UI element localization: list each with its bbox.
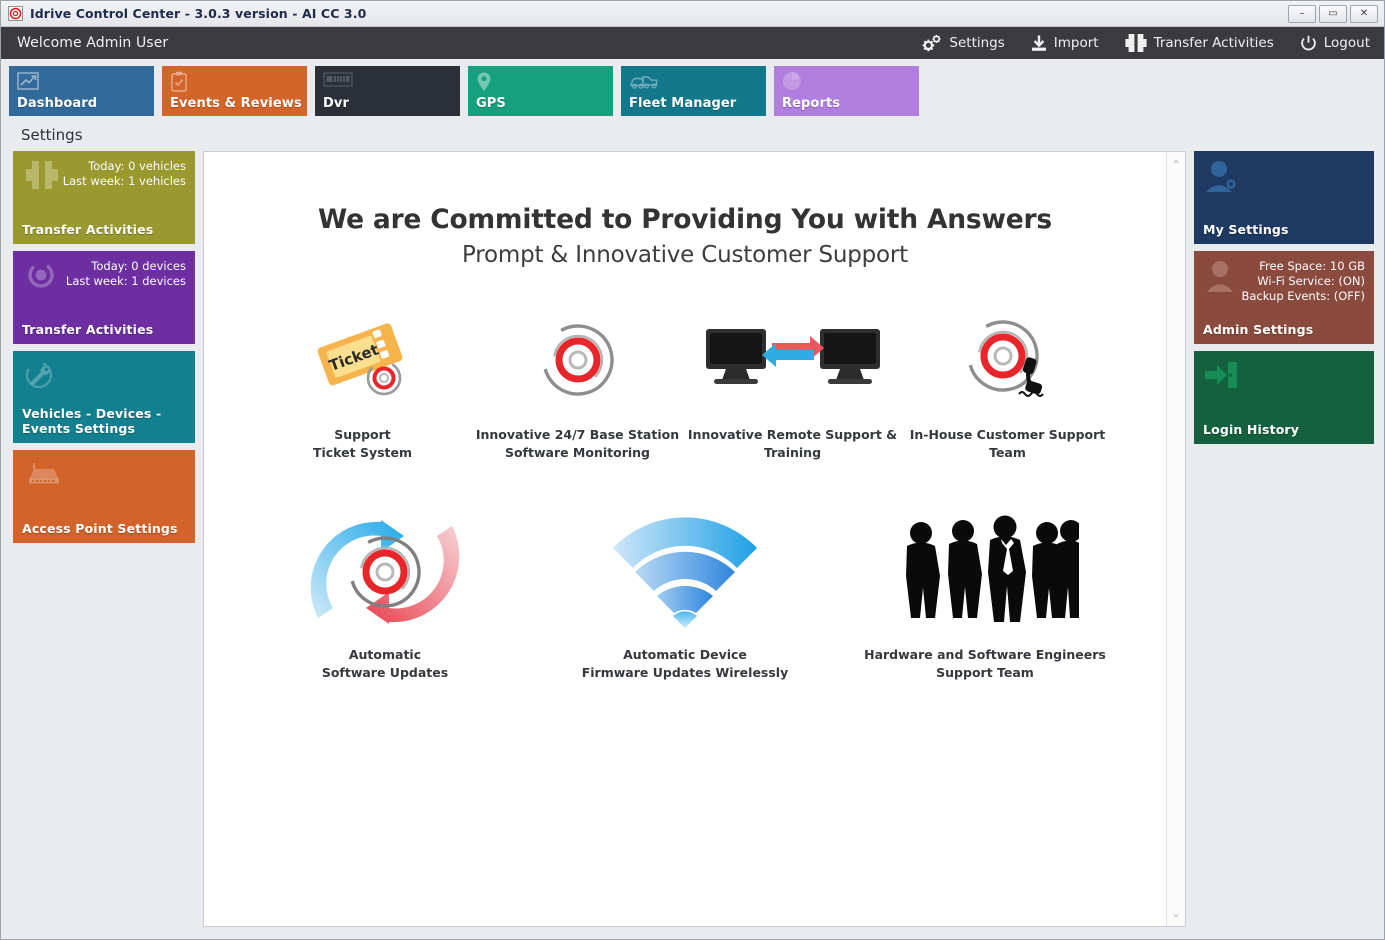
tab-gps[interactable]: GPS	[468, 66, 613, 116]
team-silhouette-icon	[891, 510, 1079, 634]
content-headline: We are Committed to Providing You with A…	[214, 204, 1156, 235]
tile-stats: Today: 0 vehicles Last week: 1 vehicles	[63, 159, 186, 189]
clipboard-check-icon	[170, 71, 307, 93]
tile-vehicles-devices-events-settings[interactable]: Vehicles - Devices - Events Settings	[13, 351, 195, 443]
tile-label: Access Point Settings	[22, 521, 186, 536]
tab-dvr[interactable]: Dvr	[315, 66, 460, 116]
header-transfer-activities-button[interactable]: Transfer Activities	[1125, 34, 1274, 52]
feature-hardware-software-engineers: Hardware and Software EngineersSupport T…	[835, 510, 1135, 682]
base-station-target-icon	[536, 306, 620, 414]
header-logout-button[interactable]: Logout	[1300, 35, 1370, 52]
tab-events-reviews[interactable]: Events & Reviews	[162, 66, 307, 116]
chart-trend-icon	[17, 71, 154, 93]
pie-chart-icon	[782, 71, 919, 93]
power-icon	[1300, 35, 1317, 52]
router-icon	[22, 458, 64, 494]
feature-support-ticket-system: Ticket SupportTi	[255, 306, 470, 462]
vehicles-icon	[629, 71, 766, 93]
wifi-signal-icon	[605, 510, 765, 634]
wrench-icon	[22, 359, 58, 397]
user-settings-icon	[1203, 159, 1241, 197]
tile-stat-line: Today: 0 vehicles	[63, 159, 186, 174]
gears-icon	[921, 34, 942, 53]
window-controls: – ▭ ✕	[1288, 5, 1382, 23]
tile-label: My Settings	[1203, 222, 1365, 237]
tile-label: Transfer Activities	[22, 322, 186, 337]
maximize-button[interactable]: ▭	[1319, 5, 1347, 23]
left-tile-column: Today: 0 vehicles Last week: 1 vehicles …	[13, 151, 195, 927]
feature-base-station-monitoring: Innovative 24/7 Base StationSoftware Mon…	[470, 306, 685, 462]
tab-gps-label: GPS	[476, 96, 506, 111]
minimize-button[interactable]: –	[1288, 5, 1316, 23]
feature-label: SupportTicket System	[313, 426, 412, 462]
transfer-arrows-icon	[22, 159, 62, 195]
tile-transfer-activities-devices[interactable]: Today: 0 devices Last week: 1 devices Tr…	[13, 251, 195, 344]
tile-stat-line: Last week: 1 vehicles	[63, 174, 186, 189]
feature-label: AutomaticSoftware Updates	[322, 646, 448, 682]
tile-label: Transfer Activities	[22, 222, 186, 237]
feature-label: Innovative Remote Support &Training	[688, 426, 897, 462]
download-icon	[1031, 35, 1047, 52]
software-refresh-icon	[292, 510, 478, 634]
tile-label: Login History	[1203, 422, 1365, 437]
tile-stat-line: Last week: 1 devices	[66, 274, 186, 289]
header-settings-button[interactable]: Settings	[921, 34, 1004, 53]
feature-automatic-device-firmware-updates: Automatic DeviceFirmware Updates Wireles…	[535, 510, 835, 682]
tile-stat-line: Free Space: 10 GB	[1241, 259, 1365, 274]
tile-stats: Free Space: 10 GB Wi-Fi Service: (ON) Ba…	[1241, 259, 1365, 304]
tile-stat-line: Wi-Fi Service: (ON)	[1241, 274, 1365, 289]
tab-dashboard[interactable]: Dashboard	[9, 66, 154, 116]
admin-user-icon	[1203, 259, 1237, 297]
dvr-box-icon	[323, 71, 460, 93]
header-actions: Settings Import Transf	[921, 34, 1370, 53]
scroll-up-arrow[interactable]: ⌃	[1171, 159, 1181, 171]
page-body: Today: 0 vehicles Last week: 1 vehicles …	[1, 151, 1384, 939]
transfer-arrows-icon	[1125, 34, 1147, 52]
tile-admin-settings[interactable]: Free Space: 10 GB Wi-Fi Service: (ON) Ba…	[1194, 251, 1374, 344]
content-subheadline: Prompt & Innovative Customer Support	[214, 242, 1156, 268]
device-sync-icon	[22, 259, 60, 295]
feature-in-house-support-team: In-House Customer SupportTeam	[900, 306, 1115, 462]
tab-reports[interactable]: Reports	[774, 66, 919, 116]
feature-remote-support-training: Innovative Remote Support &Training	[685, 306, 900, 462]
right-tile-column: My Settings Free Space: 10 GB Wi-Fi Serv…	[1194, 151, 1374, 927]
module-tab-bar: Dashboard Events & Reviews	[1, 59, 1384, 121]
tile-stat-line: Backup Events: (OFF)	[1241, 289, 1365, 304]
support-ticket-icon: Ticket	[309, 306, 417, 414]
tile-label: Vehicles - Devices - Events Settings	[22, 406, 186, 436]
tile-my-settings[interactable]: My Settings	[1194, 151, 1374, 244]
tile-access-point-settings[interactable]: Access Point Settings	[13, 450, 195, 543]
feature-label: In-House Customer SupportTeam	[910, 426, 1106, 462]
header-import-button[interactable]: Import	[1031, 35, 1099, 52]
target-record-icon	[8, 6, 23, 21]
window-title: Idrive Control Center - 3.0.3 version - …	[30, 6, 366, 21]
close-button[interactable]: ✕	[1350, 5, 1378, 23]
header-transfer-label: Transfer Activities	[1154, 35, 1274, 51]
app-header: Welcome Admin User	[1, 27, 1384, 59]
tab-fleet-manager-label: Fleet Manager	[629, 96, 736, 111]
scroll-down-arrow[interactable]: ⌄	[1171, 907, 1181, 919]
map-pin-icon	[476, 71, 613, 93]
header-settings-label: Settings	[949, 35, 1004, 51]
tile-login-history[interactable]: Login History	[1194, 351, 1374, 444]
tile-stat-line: Today: 0 devices	[66, 259, 186, 274]
welcome-label: Welcome Admin User	[17, 35, 168, 51]
tile-label: Admin Settings	[1203, 322, 1365, 337]
breadcrumb: Settings	[21, 126, 83, 144]
title-bar: Idrive Control Center - 3.0.3 version - …	[1, 1, 1384, 27]
feature-automatic-software-updates: AutomaticSoftware Updates	[235, 510, 535, 682]
feature-row-1: Ticket SupportTi	[214, 306, 1156, 488]
tab-dashboard-label: Dashboard	[17, 96, 97, 111]
tab-dvr-label: Dvr	[323, 96, 349, 111]
feature-label: Hardware and Software EngineersSupport T…	[864, 646, 1106, 682]
feature-label: Innovative 24/7 Base StationSoftware Mon…	[476, 426, 679, 462]
feature-grid: Ticket SupportTi	[214, 306, 1156, 708]
support-phone-target-icon	[959, 306, 1057, 414]
content-scroll-area: We are Committed to Providing You with A…	[204, 152, 1166, 926]
feature-row-2: AutomaticSoftware Updates	[214, 488, 1156, 708]
feature-label: Automatic DeviceFirmware Updates Wireles…	[582, 646, 789, 682]
tile-transfer-activities-vehicles[interactable]: Today: 0 vehicles Last week: 1 vehicles …	[13, 151, 195, 244]
login-door-icon	[1203, 359, 1239, 395]
tab-reports-label: Reports	[782, 96, 840, 111]
remote-monitors-icon	[702, 306, 884, 414]
app-window: Idrive Control Center - 3.0.3 version - …	[0, 0, 1385, 940]
header-import-label: Import	[1054, 35, 1099, 51]
tab-events-reviews-label: Events & Reviews	[170, 96, 302, 111]
tile-stats: Today: 0 devices Last week: 1 devices	[66, 259, 186, 289]
breadcrumb-bar: Settings	[1, 121, 1384, 151]
content-column: We are Committed to Providing You with A…	[203, 151, 1186, 927]
header-logout-label: Logout	[1324, 35, 1370, 51]
content-scrollbar[interactable]: ⌃ ⌄	[1166, 152, 1185, 926]
content-panel: We are Committed to Providing You with A…	[203, 151, 1186, 927]
tab-fleet-manager[interactable]: Fleet Manager	[621, 66, 766, 116]
